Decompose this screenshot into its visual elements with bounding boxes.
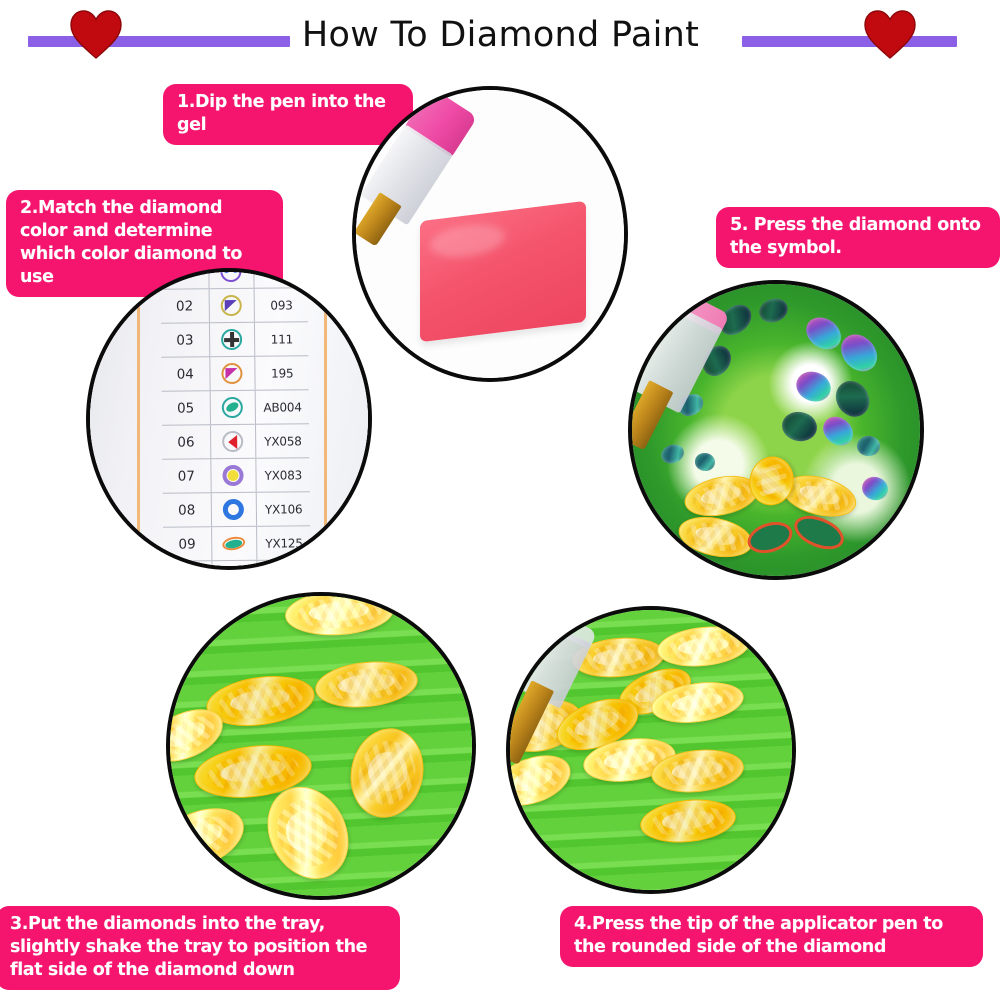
- plus-circle-icon: [222, 329, 243, 350]
- teal-leaf-orange-outline-icon: [224, 533, 245, 554]
- chart-row: 08YX106: [163, 493, 311, 529]
- chart-row-symbol: [212, 527, 258, 560]
- gel-wax-square: [420, 201, 586, 342]
- chart-row-code: YX106: [257, 493, 310, 527]
- chart-row-number: 02: [161, 290, 210, 324]
- step-4-label: 4.Press the tip of the applicator pen to…: [560, 906, 983, 967]
- chart-row-number: 06: [162, 426, 211, 460]
- chart-row-code: 195: [256, 357, 309, 391]
- teal-partial-icon: [224, 567, 245, 570]
- page-title: How To Diamond Paint: [0, 13, 1001, 57]
- chart-row-code: 111: [255, 323, 308, 357]
- chart-row-code: YX083: [257, 459, 310, 493]
- blue-ring-icon: [223, 499, 244, 520]
- chart-row-symbol: [211, 391, 257, 424]
- chart-row-symbol: [209, 268, 255, 289]
- chart-row-symbol: [212, 561, 258, 570]
- teal-oval-circle-icon: [222, 397, 243, 418]
- chart-row-number: [164, 562, 213, 570]
- yellow-dot-purple-ring-icon: [223, 465, 244, 486]
- infographic-page: How To Diamond Paint 1.Dip the pen into …: [0, 0, 1001, 1001]
- chart-row-number: 01: [160, 268, 209, 289]
- chart-row-number: 05: [162, 392, 211, 426]
- chart-margin-line-left: [137, 272, 140, 566]
- chart-row-number: 09: [163, 528, 212, 562]
- chart-row-code: 093: [255, 289, 308, 323]
- chart-row-code: [258, 561, 311, 570]
- chart-row-symbol: [212, 493, 258, 526]
- photo-pen-dipping-gel: [352, 86, 628, 382]
- chart-row: [164, 561, 312, 570]
- chart-row-code: 026: [255, 268, 308, 288]
- photo-pen-picking-diamond: [506, 606, 796, 894]
- chart-row-number: 03: [161, 324, 210, 358]
- chart-row-symbol: [210, 323, 256, 356]
- chart-row-number: 08: [163, 494, 212, 528]
- chart-row-symbol: [210, 357, 256, 390]
- chart-row-symbol: [211, 459, 257, 492]
- step-5-label: 5. Press the diamond onto the symbol.: [716, 207, 1000, 268]
- photo-press-diamond-on-symbol: [628, 280, 924, 580]
- triangle-circle-icon: [221, 295, 242, 316]
- chart-row-code: YX125: [258, 527, 311, 561]
- chart-row: 03111: [161, 323, 309, 359]
- chart-row: 07YX083: [163, 459, 311, 495]
- photo-diamonds-in-tray: [166, 592, 476, 900]
- chart-row-code: YX058: [257, 425, 310, 459]
- two-dots-circle-icon: [221, 268, 242, 283]
- header: How To Diamond Paint: [0, 0, 1001, 72]
- chart-row: 04195: [162, 357, 310, 393]
- photo-color-chart: 0102602093031110419505AB00406YX05807YX08…: [86, 268, 372, 570]
- chart-margin-line-right: [324, 272, 327, 566]
- chart-row-symbol: [211, 425, 257, 458]
- chart-row: 02093: [161, 289, 309, 325]
- chart-row-code: AB004: [256, 391, 309, 425]
- color-chart-table: 0102602093031110419505AB00406YX05807YX08…: [160, 268, 311, 570]
- chart-row: 05AB004: [162, 391, 310, 427]
- magenta-triangle-circle-icon: [222, 363, 243, 384]
- chart-row-number: 04: [162, 358, 211, 392]
- chart-row: 06YX058: [162, 425, 310, 461]
- chart-row-number: 07: [163, 460, 212, 494]
- chart-row: 01026: [160, 268, 308, 290]
- chart-row: 09YX125: [163, 527, 311, 563]
- chart-row-symbol: [209, 289, 255, 322]
- step-3-label: 3.Put the diamonds into the tray, slight…: [0, 906, 400, 990]
- red-chevron-circle-icon: [223, 431, 244, 452]
